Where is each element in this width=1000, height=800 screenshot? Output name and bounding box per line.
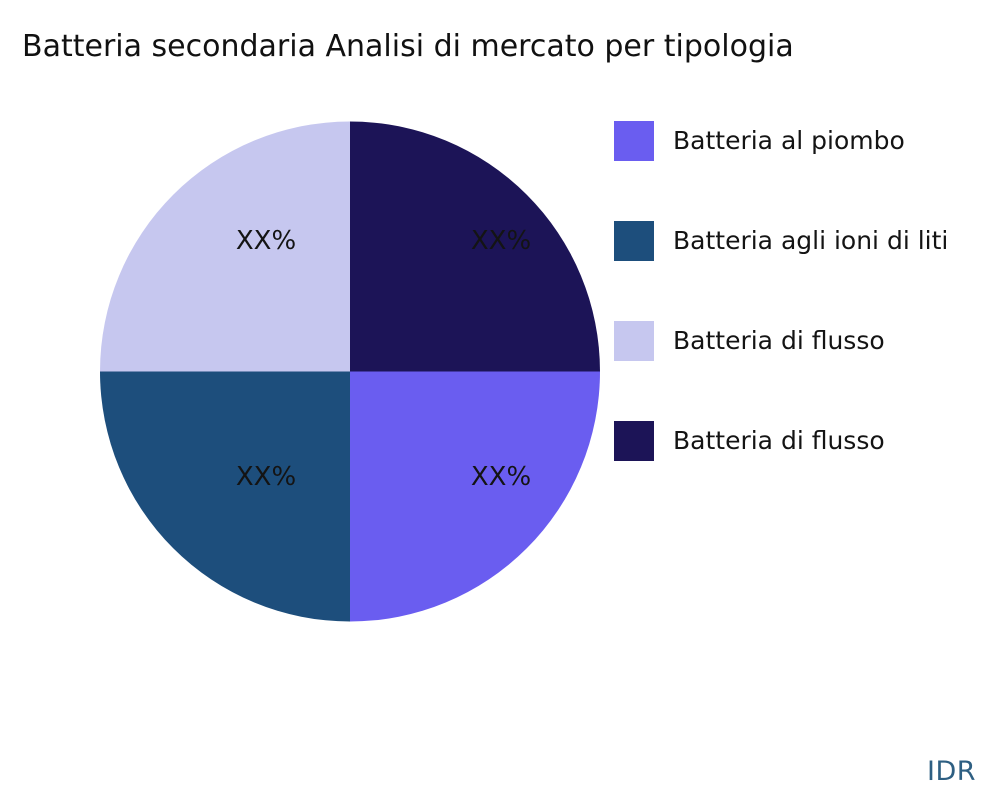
legend-item-label: Batteria al piombo (673, 127, 905, 155)
legend-item-batteria-agli-ioni-di-litio[interactable]: Batteria agli ioni di liti (614, 221, 1000, 261)
legend-item-label: Batteria di flusso (673, 427, 885, 455)
pie-slice-top-left[interactable] (100, 122, 350, 372)
pie-chart: XX% XX% XX% XX% (100, 121, 600, 622)
chart-page: Batteria secondaria Analisi di mercato p… (0, 0, 1000, 800)
pie-label-bottom-right: XX% (471, 462, 531, 492)
page-title: Batteria secondaria Analisi di mercato p… (22, 28, 794, 66)
legend-swatch-icon (614, 421, 654, 461)
legend-item-batteria-di-flusso-dark[interactable]: Batteria di flusso (614, 421, 1000, 461)
watermark-idr: IDR (927, 756, 976, 787)
legend: Batteria al piombo Batteria agli ioni di… (614, 121, 1000, 461)
legend-swatch-icon (614, 121, 654, 161)
legend-item-label: Batteria di flusso (673, 327, 885, 355)
legend-item-label: Batteria agli ioni di liti (673, 227, 948, 255)
pie-chart-svg (100, 121, 600, 622)
legend-swatch-icon (614, 221, 654, 261)
pie-slice-bottom-right[interactable] (350, 372, 600, 622)
legend-item-batteria-di-flusso-light[interactable]: Batteria di flusso (614, 321, 1000, 361)
pie-slice-bottom-left[interactable] (100, 372, 350, 622)
legend-swatch-icon (614, 321, 654, 361)
pie-label-bottom-left: XX% (236, 462, 296, 492)
pie-label-top-left: XX% (236, 226, 296, 256)
legend-item-batteria-al-piombo[interactable]: Batteria al piombo (614, 121, 1000, 161)
pie-label-top-right: XX% (471, 226, 531, 256)
